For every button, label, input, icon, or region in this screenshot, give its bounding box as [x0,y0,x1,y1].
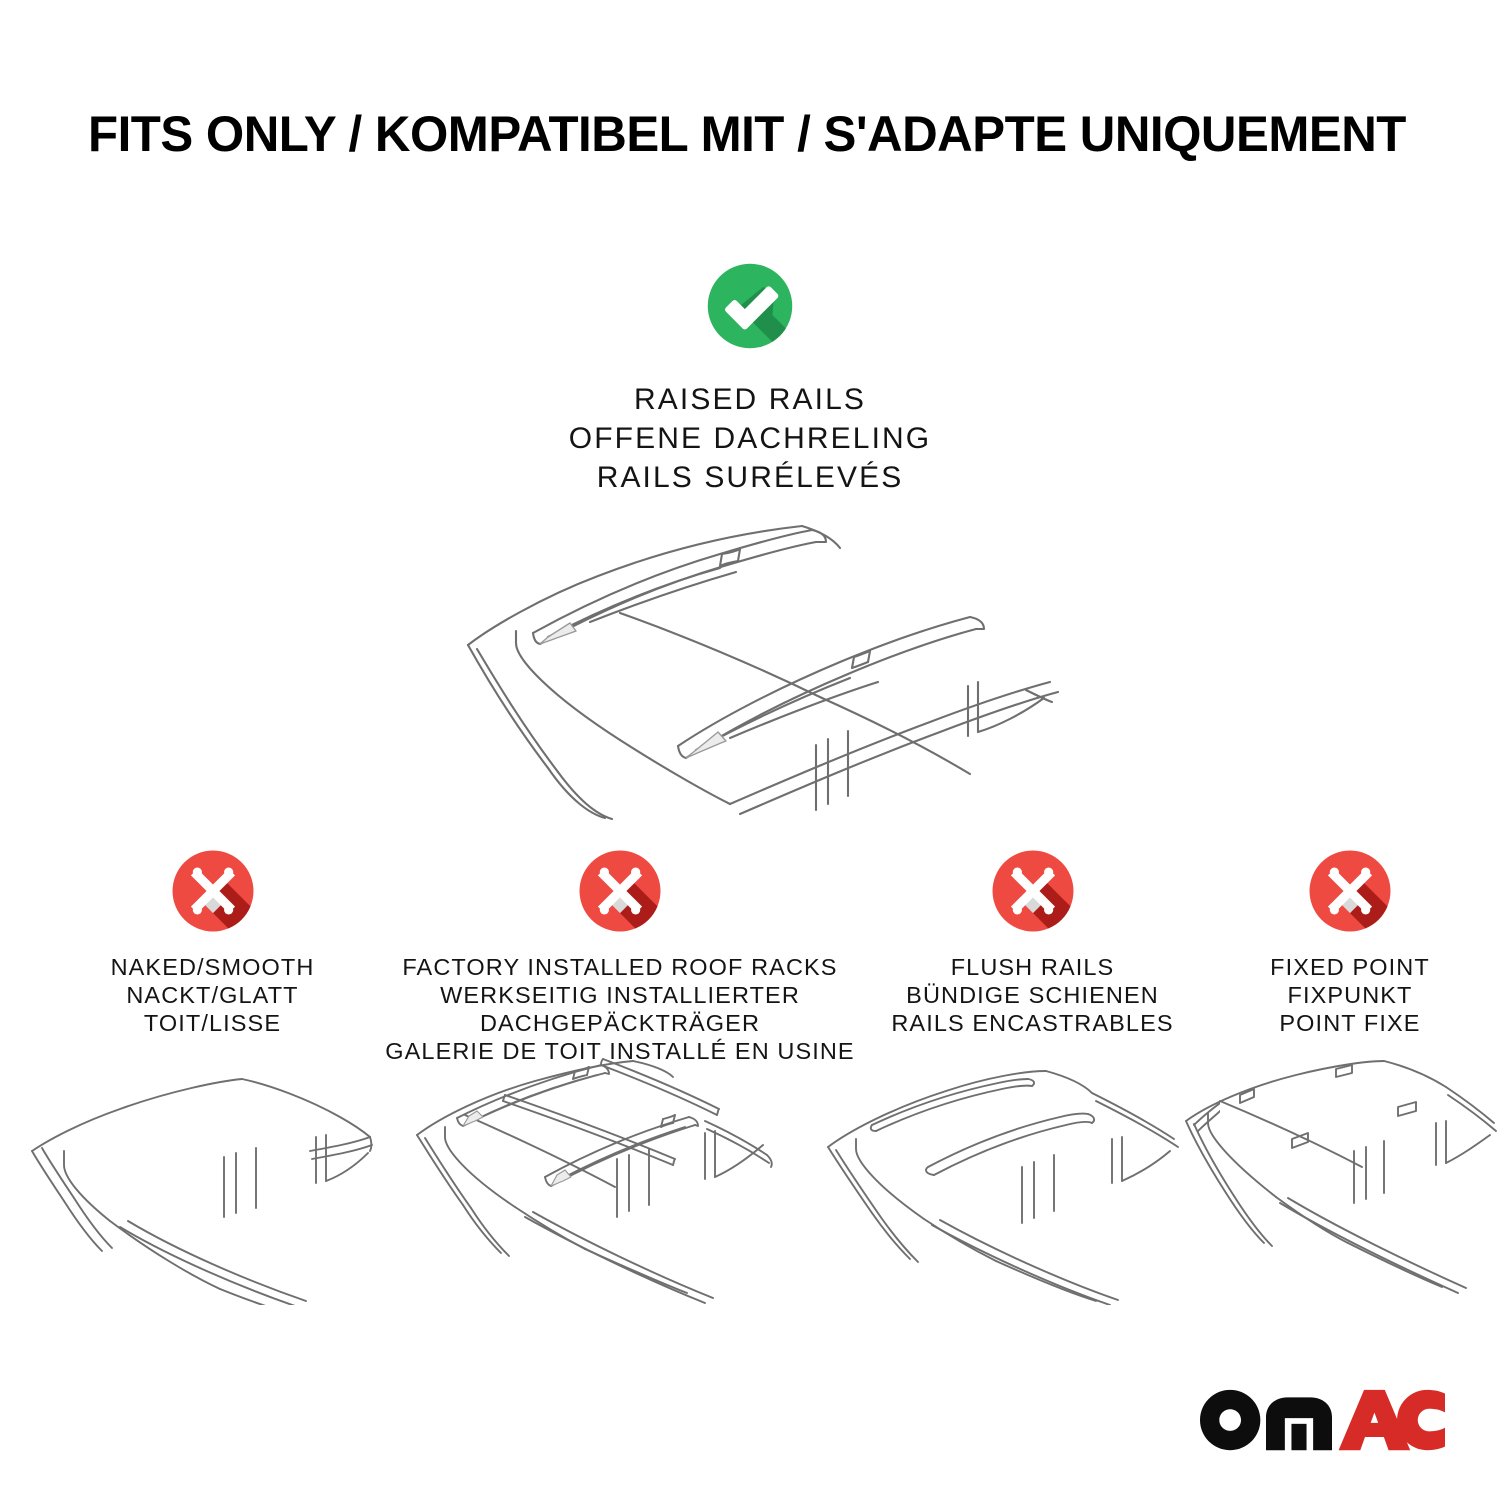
caption-line-de: NACKT/GLATT [111,981,315,1009]
incompatible-caption-naked-smooth: NAKED/SMOOTH NACKT/GLATT TOIT/LISSE [111,953,315,1037]
page-title-text: FITS ONLY / KOMPATIBEL MIT / S'ADAPTE UN… [88,109,1406,159]
compatible-line-fr: RAILS SURÉLEVÉS [569,458,931,497]
car-roof-fixed-point-illustration [1180,1055,1500,1305]
compatible-line-en: RAISED RAILS [569,380,931,419]
caption-line-fr: TOIT/LISSE [111,1009,315,1037]
caption-line-en: FLUSH RAILS [891,953,1173,981]
incompatible-caption-factory-roof-racks: FACTORY INSTALLED ROOF RACKS WERKSEITIG … [385,953,854,1065]
incompatible-item-flush-rails: FLUSH RAILS BÜNDIGE SCHIENEN RAILS ENCAS… [855,845,1210,1037]
compatible-caption: RAISED RAILS OFFENE DACHRELING RAILS SUR… [569,380,931,497]
incompatible-caption-fixed-point: FIXED POINT FIXPUNKT POINT FIXE [1270,953,1430,1037]
cross-circle-icon [167,845,259,937]
omac-logo [1200,1388,1445,1454]
check-circle-icon [702,258,798,354]
incompatible-caption-flush-rails: FLUSH RAILS BÜNDIGE SCHIENEN RAILS ENCAS… [891,953,1173,1037]
caption-line-de-1: WERKSEITIG INSTALLIERTER [385,981,854,1009]
cross-circle-icon [574,845,666,937]
caption-line-en: FACTORY INSTALLED ROOF RACKS [385,953,854,981]
caption-line-en: NAKED/SMOOTH [111,953,315,981]
caption-line-en: FIXED POINT [1270,953,1430,981]
caption-line-de: BÜNDIGE SCHIENEN [891,981,1173,1009]
incompatible-item-fixed-point: FIXED POINT FIXPUNKT POINT FIXE [1205,845,1495,1037]
cross-circle-icon [987,845,1079,937]
caption-line-de-2: DACHGEPÄCKTRÄGER [385,1009,854,1037]
incompatible-section: NAKED/SMOOTH NACKT/GLATT TOIT/LISSE [0,845,1500,1055]
car-roof-flush-rails-illustration [820,1055,1220,1305]
incompatible-item-factory-roof-racks: FACTORY INSTALLED ROOF RACKS WERKSEITIG … [385,845,855,1065]
car-roof-naked-smooth-illustration [20,1055,400,1305]
car-roof-factory-racks-illustration [405,1055,805,1305]
compatible-section: RAISED RAILS OFFENE DACHRELING RAILS SUR… [0,258,1500,497]
page-title: FITS ONLY / KOMPATIBEL MIT / S'ADAPTE UN… [88,104,1428,164]
caption-line-de: FIXPUNKT [1270,981,1430,1009]
cross-circle-icon [1304,845,1396,937]
caption-line-fr: RAILS ENCASTRABLES [891,1009,1173,1037]
compatible-line-de: OFFENE DACHRELING [569,419,931,458]
incompatible-item-naked-smooth: NAKED/SMOOTH NACKT/GLATT TOIT/LISSE [40,845,385,1037]
caption-line-fr: POINT FIXE [1270,1009,1430,1037]
car-roof-raised-rails-illustration [430,510,1080,820]
